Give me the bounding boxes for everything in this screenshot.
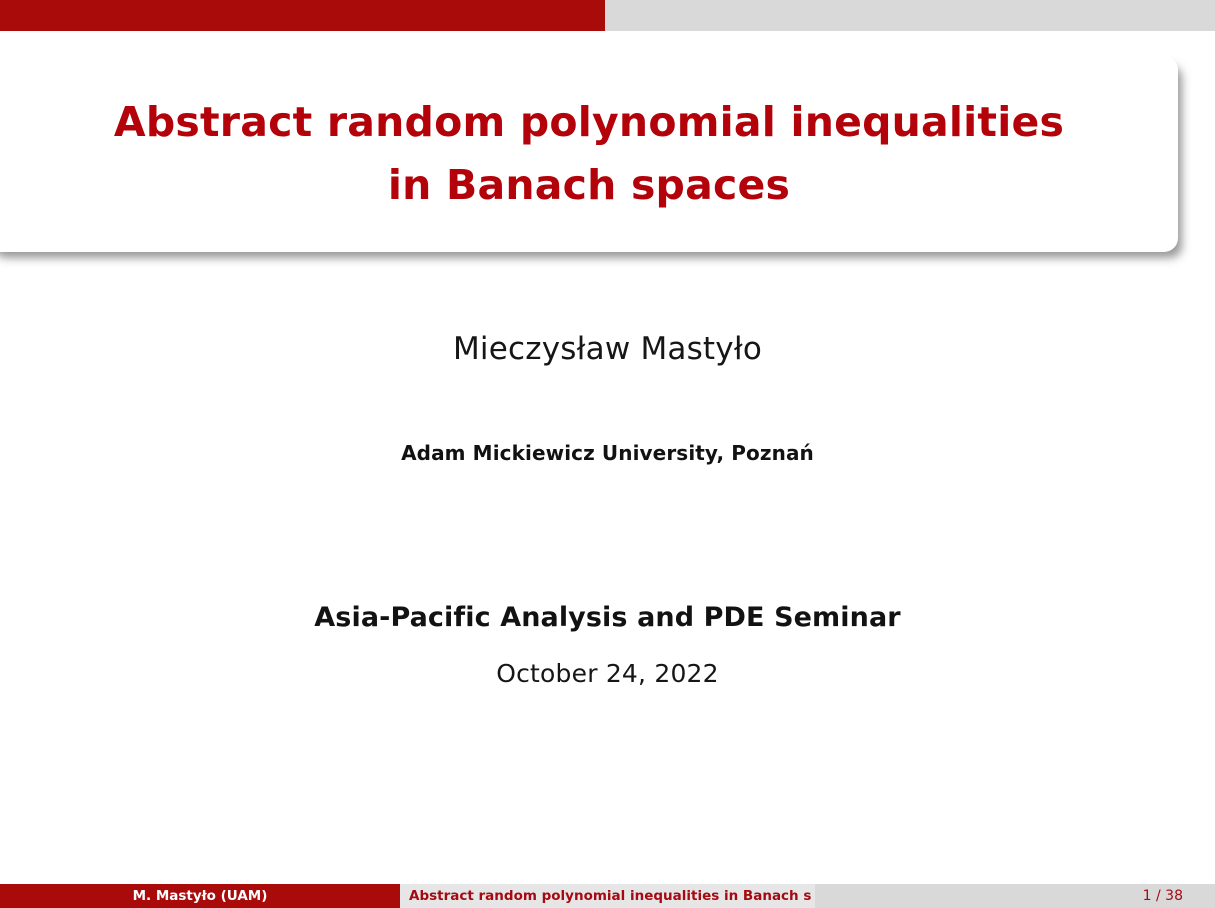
institute-name: Adam Mickiewicz University, Poznań [0,441,1215,465]
title-inner: Abstract random polynomial inequalities … [0,56,1178,252]
event-name: Asia-Pacific Analysis and PDE Seminar [0,602,1215,633]
title-block: Abstract random polynomial inequalities … [0,56,1178,252]
header-bar-red [0,0,605,31]
slide-footer: M. Mastyło (UAM) Abstract random polynom… [0,884,1215,908]
title-box: Abstract random polynomial inequalities … [0,56,1178,252]
presentation-title-line-2: in Banach spaces [388,154,790,217]
presentation-date: October 24, 2022 [0,659,1215,688]
footer-title: Abstract random polynomial inequalities … [400,884,815,908]
author-name: Mieczysław Mastyło [0,331,1215,367]
footer-page-indicator: 1 / 38 [815,884,1215,908]
presentation-title-line-1: Abstract random polynomial inequalities [114,91,1064,154]
header-bar-grey [0,0,1215,31]
footer-author: M. Mastyło (UAM) [0,884,400,908]
